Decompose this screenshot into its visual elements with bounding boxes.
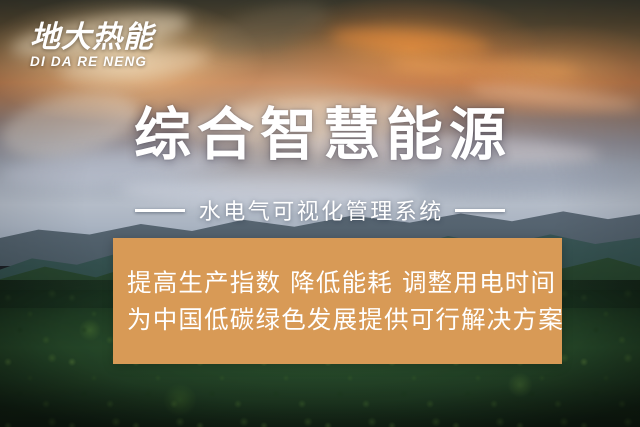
dash-left-icon [135,209,185,212]
callout-box: 提高生产指数 降低能耗 调整用电时间 为中国低碳绿色发展提供可行解决方案 [113,238,562,364]
callout-line-2: 为中国低碳绿色发展提供可行解决方案 [127,306,562,333]
cloud-streak [390,55,581,82]
cloud-streak [207,0,333,62]
poster-subtitle-text: 水电气可视化管理系统 [196,194,444,226]
cloud-streak [420,164,640,198]
brand-logo-chinese: 地大热能 [30,22,180,53]
promo-poster: 地大热能 DI DA RE NENG 综合智慧能源 水电气可视化管理系统 提高生… [0,0,640,427]
poster-subtitle: 水电气可视化管理系统 [0,194,640,226]
brand-logo-pinyin: DI DA RE NENG [30,54,180,69]
poster-title: 综合智慧能源 [0,106,640,166]
callout-text-block: 提高生产指数 降低能耗 调整用电时间 为中国低碳绿色发展提供可行解决方案 [113,238,562,364]
brand-logo: 地大热能 DI DA RE NENG [30,22,180,69]
cloud-streak [329,24,490,57]
dash-right-icon [455,209,505,212]
callout-line-1: 提高生产指数 降低能耗 调整用电时间 [127,269,562,296]
